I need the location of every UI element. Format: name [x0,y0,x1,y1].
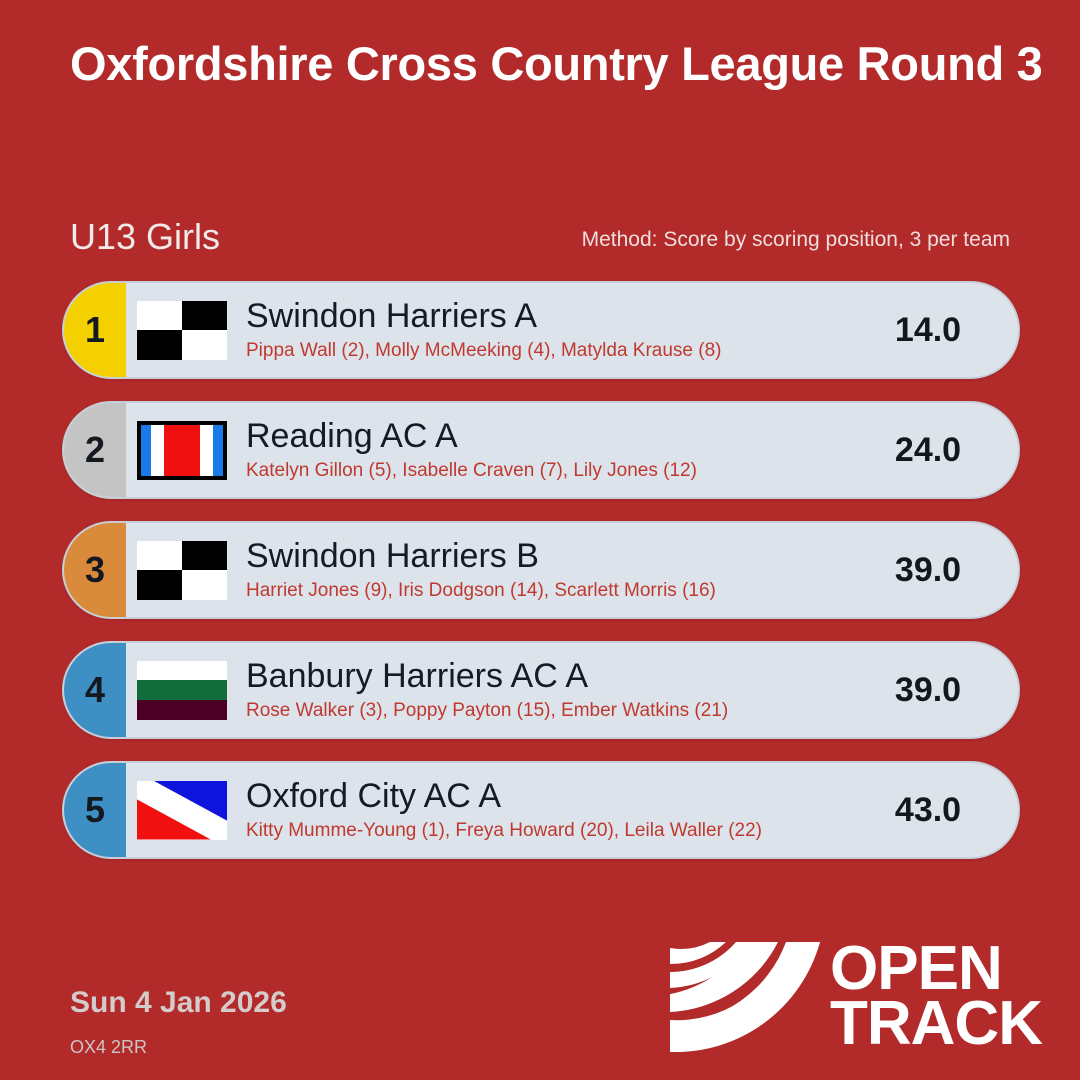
team-flag-icon [137,301,227,360]
team-score: 14.0 [850,283,1018,377]
team-name: Reading AC A [246,418,850,454]
team-cell: Swindon Harriers BHarriet Jones (9), Iri… [238,523,850,617]
flag-cell [126,523,238,617]
event-date: Sun 4 Jan 2026 [70,986,287,1020]
team-flag-icon [137,541,227,600]
event-venue: OX4 2RR [70,1037,147,1058]
scoring-method-label: Method: Score by scoring position, 3 per… [582,228,1010,252]
team-cell: Swindon Harriers APippa Wall (2), Molly … [238,283,850,377]
team-name: Swindon Harriers B [246,538,850,574]
flag-cell [126,403,238,497]
result-row[interactable]: 2Reading AC AKatelyn Gillon (5), Isabell… [62,401,1020,499]
age-category-label: U13 Girls [70,216,220,258]
athlete-list: Rose Walker (3), Poppy Payton (15), Embe… [246,700,850,722]
team-score: 39.0 [850,523,1018,617]
logo-wordmark: OPEN TRACK [830,942,1042,1051]
flag-cell [126,283,238,377]
athlete-list: Pippa Wall (2), Molly McMeeking (4), Mat… [246,340,850,362]
team-score: 24.0 [850,403,1018,497]
team-name: Swindon Harriers A [246,298,850,334]
opentrack-logo: OPEN TRACK [670,942,1042,1052]
position-badge: 5 [64,763,126,857]
team-flag-icon [137,661,227,720]
results-list: 1Swindon Harriers APippa Wall (2), Molly… [62,281,1020,881]
track-arcs-icon [670,942,820,1052]
athlete-list: Katelyn Gillon (5), Isabelle Craven (7),… [246,460,850,482]
position-badge: 3 [64,523,126,617]
flag-cell [126,643,238,737]
athlete-list: Harriet Jones (9), Iris Dodgson (14), Sc… [246,580,850,602]
team-score: 39.0 [850,643,1018,737]
team-score: 43.0 [850,763,1018,857]
position-badge: 4 [64,643,126,737]
team-cell: Oxford City AC AKitty Mumme-Young (1), F… [238,763,850,857]
flag-cell [126,763,238,857]
page-title: Oxfordshire Cross Country League Round 3 [70,36,1030,91]
team-cell: Reading AC AKatelyn Gillon (5), Isabelle… [238,403,850,497]
result-row[interactable]: 5Oxford City AC AKitty Mumme-Young (1), … [62,761,1020,859]
result-row[interactable]: 4Banbury Harriers AC ARose Walker (3), P… [62,641,1020,739]
team-cell: Banbury Harriers AC ARose Walker (3), Po… [238,643,850,737]
logo-line-track: TRACK [830,997,1042,1052]
position-badge: 1 [64,283,126,377]
athlete-list: Kitty Mumme-Young (1), Freya Howard (20)… [246,820,850,842]
subheader: U13 Girls Method: Score by scoring posit… [70,216,1010,262]
team-flag-icon [137,781,227,840]
team-name: Banbury Harriers AC A [246,658,850,694]
result-row[interactable]: 1Swindon Harriers APippa Wall (2), Molly… [62,281,1020,379]
result-row[interactable]: 3Swindon Harriers BHarriet Jones (9), Ir… [62,521,1020,619]
team-flag-icon [137,421,227,480]
team-name: Oxford City AC A [246,778,850,814]
position-badge: 2 [64,403,126,497]
